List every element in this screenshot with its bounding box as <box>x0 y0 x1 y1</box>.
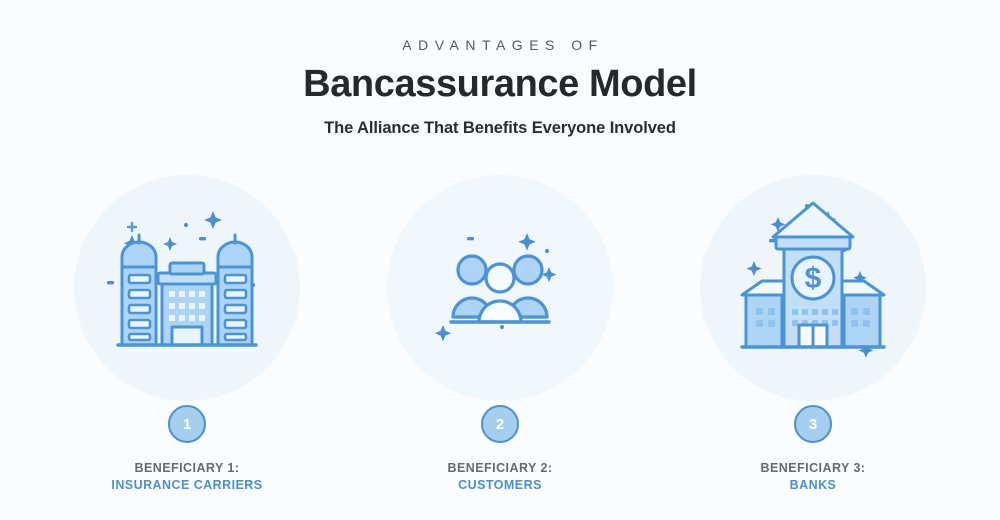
caption-value-2: CUSTOMERS <box>448 477 553 494</box>
caption-label-2: BENEFICIARY 2: <box>448 460 553 477</box>
people-group-icon <box>387 175 613 401</box>
office-buildings-icon <box>74 175 300 401</box>
caption-3: BENEFICIARY 3: BANKS <box>761 460 866 494</box>
caption-value-3: BANKS <box>761 477 866 494</box>
eyebrow-text: ADVANTAGES OF <box>0 38 1000 52</box>
halo-circle-1 <box>74 175 300 401</box>
caption-label-1: BENEFICIARY 1: <box>111 460 262 477</box>
step-badge-1: 1 <box>168 405 206 443</box>
caption-2: BENEFICIARY 2: CUSTOMERS <box>448 460 553 494</box>
halo-circle-2 <box>387 175 613 401</box>
beneficiary-column-3: $ <box>657 175 970 494</box>
caption-label-3: BENEFICIARY 3: <box>761 460 866 477</box>
caption-1: BENEFICIARY 1: INSURANCE CARRIERS <box>111 460 262 494</box>
caption-value-1: INSURANCE CARRIERS <box>111 477 262 494</box>
halo-circle-3: $ <box>700 175 926 401</box>
beneficiary-column-1: 1 BENEFICIARY 1: INSURANCE CARRIERS <box>31 175 344 494</box>
header: ADVANTAGES OF Bancassurance Model The Al… <box>0 0 1000 139</box>
bank-building-icon: $ <box>700 175 926 401</box>
page-title: Bancassurance Model <box>0 64 1000 105</box>
beneficiary-column-2: 2 BENEFICIARY 2: CUSTOMERS <box>344 175 657 494</box>
infographic-root: ADVANTAGES OF Bancassurance Model The Al… <box>0 0 1000 520</box>
svg-text:$: $ <box>805 262 822 295</box>
step-badge-3: 3 <box>794 405 832 443</box>
step-badge-2: 2 <box>481 405 519 443</box>
beneficiary-columns: 1 BENEFICIARY 1: INSURANCE CARRIERS <box>0 175 1000 494</box>
subtitle-text: The Alliance That Benefits Everyone Invo… <box>0 119 1000 139</box>
